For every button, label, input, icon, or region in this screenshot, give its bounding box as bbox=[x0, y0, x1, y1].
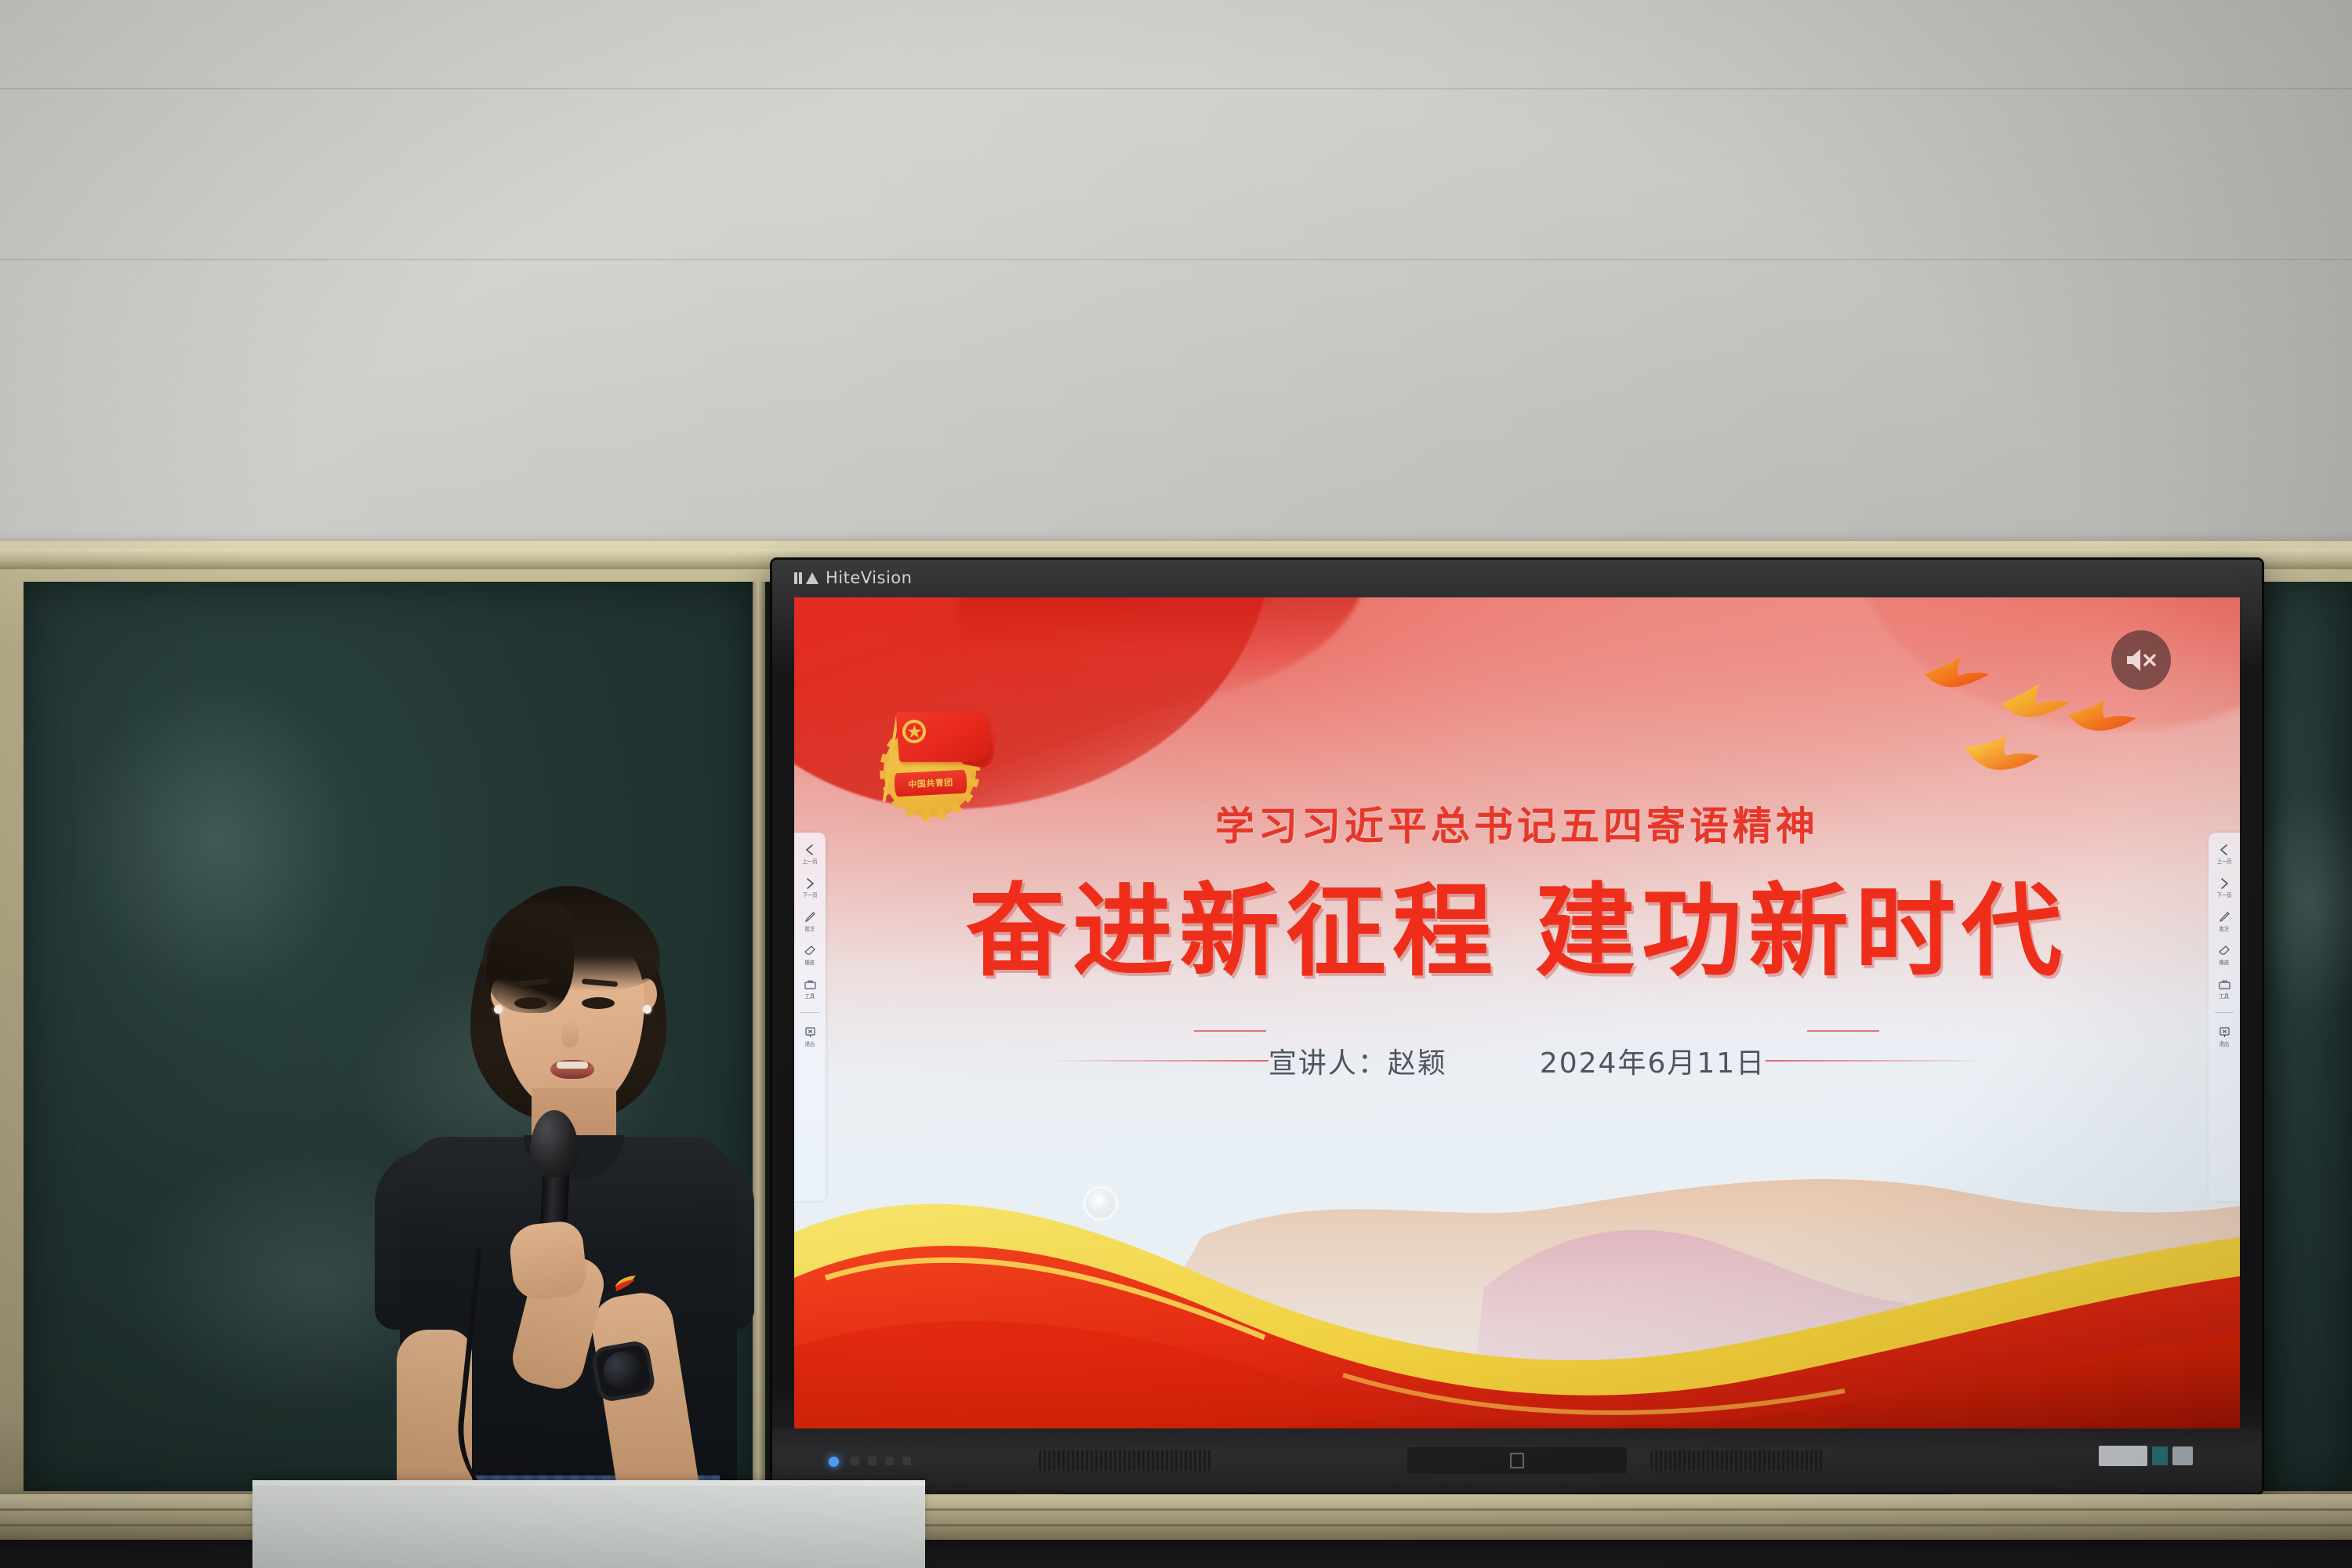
pen-icon bbox=[804, 909, 816, 924]
toolbar-item-next-page[interactable]: 下一页 bbox=[794, 876, 826, 899]
toolbox-icon bbox=[2218, 977, 2231, 992]
interactive-flat-panel-display[interactable]: HiteVision ★ 中国共青团 bbox=[772, 560, 2262, 1493]
display-brand-name: HiteVision bbox=[826, 568, 912, 587]
display-spec-label bbox=[2099, 1446, 2193, 1466]
dove-icon bbox=[1964, 731, 2041, 776]
toolbar-item-eraser[interactable]: 橡皮 bbox=[794, 943, 826, 967]
power-indicator-led bbox=[829, 1457, 839, 1467]
annotation-toolbar-right[interactable]: 上一页 下一页 批注 bbox=[2209, 833, 2240, 1201]
eye bbox=[582, 997, 615, 1009]
speaker-grille bbox=[1650, 1450, 1823, 1471]
annotation-toolbar-left[interactable]: 上一页 下一页 批注 bbox=[794, 833, 826, 1201]
toolbar-label: 橡皮 bbox=[2220, 959, 2229, 967]
meta-tick-left bbox=[1194, 1030, 1266, 1032]
slide-wave-decoration bbox=[794, 1068, 2240, 1428]
meta-divider-left bbox=[1058, 1060, 1269, 1062]
toolbar-label: 批注 bbox=[2220, 925, 2229, 933]
slide-subtitle: 学习习近平总书记五四寄语精神 bbox=[794, 795, 2240, 851]
toolbox-icon bbox=[804, 977, 817, 992]
toolbar-label: 上一页 bbox=[803, 858, 818, 866]
chevron-right-icon bbox=[804, 876, 815, 891]
toolbar-label: 退出 bbox=[805, 1040, 815, 1048]
toolbar-item-exit[interactable]: 退出 bbox=[794, 1025, 826, 1048]
toolbar-label: 批注 bbox=[805, 925, 815, 933]
display-bottom-bezel bbox=[772, 1428, 2262, 1493]
presentation-slide[interactable]: ★ 中国共青团 bbox=[794, 597, 2240, 1428]
pointer-indicator bbox=[1086, 1189, 1116, 1218]
slide-title: 奋进新征程建功新时代 bbox=[794, 850, 2240, 995]
toolbar-label: 工具 bbox=[2220, 993, 2229, 1000]
teeth bbox=[557, 1062, 588, 1069]
speaker-mute-icon bbox=[2124, 646, 2158, 674]
display-center-logo bbox=[1407, 1447, 1627, 1474]
chevron-left-icon bbox=[804, 842, 815, 857]
dove-icon bbox=[1998, 681, 2071, 724]
chevron-right-icon bbox=[2219, 876, 2230, 891]
earring bbox=[494, 1005, 503, 1014]
earring bbox=[643, 1005, 652, 1014]
wall-shading bbox=[0, 0, 2352, 549]
wall-seam bbox=[0, 88, 2352, 89]
toolbar-item-eraser[interactable]: 橡皮 bbox=[2209, 943, 2240, 967]
party-emblem-pin bbox=[613, 1273, 638, 1294]
exit-projection-icon bbox=[804, 1025, 817, 1040]
dove-icon bbox=[2067, 696, 2138, 739]
toolbar-item-annotate[interactable]: 批注 bbox=[2209, 909, 2240, 933]
meta-divider-right bbox=[1766, 1060, 1976, 1062]
wall-seam bbox=[0, 259, 2352, 260]
toolbar-item-annotate[interactable]: 批注 bbox=[794, 909, 826, 933]
emblem-banner: 中国共青团 bbox=[894, 770, 967, 797]
display-hardware-buttons[interactable] bbox=[851, 1457, 911, 1465]
hitevision-logo-icon bbox=[794, 572, 818, 584]
mute-button[interactable] bbox=[2111, 630, 2171, 690]
nose bbox=[561, 1021, 579, 1047]
smartwatch bbox=[590, 1339, 656, 1403]
toolbar-label: 下一页 bbox=[803, 891, 818, 899]
lectern-top-edge bbox=[252, 1480, 925, 1486]
toolbar-item-next-page[interactable]: 下一页 bbox=[2209, 876, 2240, 899]
exit-projection-icon bbox=[2218, 1025, 2231, 1040]
slide-title-part-left: 奋进新征程 bbox=[966, 873, 1499, 990]
eraser-icon bbox=[804, 943, 817, 958]
slide-title-part-right: 建功新时代 bbox=[1535, 873, 2068, 990]
toolbar-label: 上一页 bbox=[2217, 858, 2232, 866]
toolbar-separator bbox=[2215, 1012, 2234, 1013]
toolbar-label: 下一页 bbox=[2217, 891, 2232, 899]
hand bbox=[507, 1219, 589, 1301]
toolbar-separator bbox=[800, 1012, 819, 1013]
wall bbox=[0, 0, 2352, 549]
blackboard-panel-right bbox=[2259, 582, 2352, 1491]
chalk-smudge bbox=[71, 676, 353, 1005]
toolbar-item-tools[interactable]: 工具 bbox=[2209, 977, 2240, 1000]
meta-tick-right bbox=[1807, 1030, 1879, 1032]
presenter-person bbox=[345, 886, 784, 1568]
classroom-scene: HiteVision ★ 中国共青团 bbox=[0, 0, 2352, 1568]
emblem-banner-text: 中国共青团 bbox=[908, 776, 953, 791]
toolbar-item-prev-page[interactable]: 上一页 bbox=[2209, 842, 2240, 866]
toolbar-item-tools[interactable]: 工具 bbox=[794, 977, 826, 1000]
eye bbox=[514, 997, 547, 1009]
eraser-icon bbox=[2218, 943, 2231, 958]
emblem-star-icon: ★ bbox=[906, 724, 923, 739]
speaker-grille bbox=[1039, 1450, 1211, 1471]
toolbar-label: 工具 bbox=[805, 993, 815, 1000]
toolbar-label: 橡皮 bbox=[805, 959, 815, 967]
chevron-left-icon bbox=[2219, 842, 2230, 857]
pen-icon bbox=[2218, 909, 2230, 924]
dove-icon bbox=[1923, 654, 1991, 695]
lectern bbox=[252, 1480, 925, 1568]
toolbar-label: 退出 bbox=[2220, 1040, 2229, 1048]
toolbar-item-prev-page[interactable]: 上一页 bbox=[794, 842, 826, 866]
toolbar-item-exit[interactable]: 退出 bbox=[2209, 1025, 2240, 1048]
display-screen[interactable]: ★ 中国共青团 bbox=[794, 597, 2240, 1428]
display-brand-bar: HiteVision bbox=[772, 560, 2262, 596]
